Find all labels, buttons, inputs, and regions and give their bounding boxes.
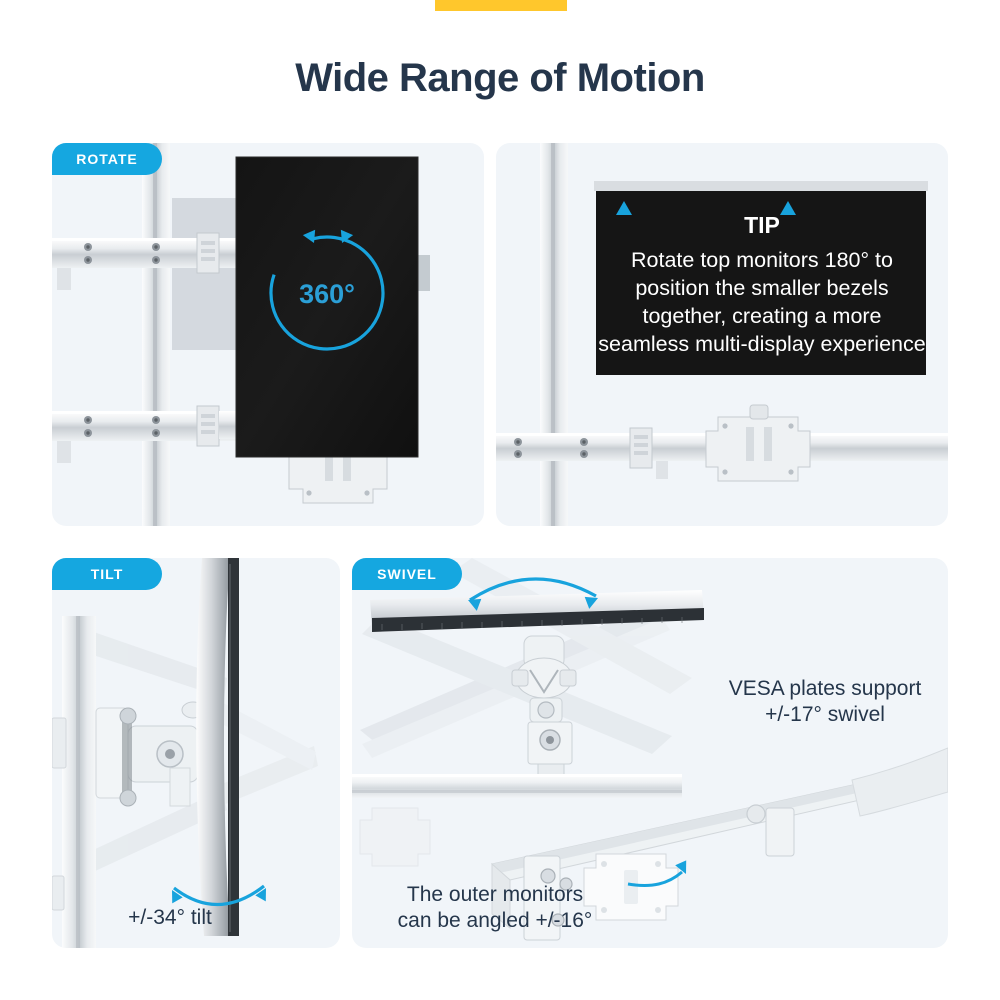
caption-vesa-swivel: VESA plates support +/-17° swivel (700, 676, 950, 727)
caption-tilt: +/-34° tilt (0, 905, 340, 931)
tilt-illustration (52, 558, 340, 948)
vesa-plate (706, 405, 810, 481)
caption-outer-monitors: The outer monitors can be angled +/-16° (355, 882, 635, 933)
rotation-label: 360° (299, 279, 355, 309)
tip-line-1: position the smaller bezels (635, 276, 888, 300)
panel-rotate: 360° ROTATE (52, 143, 484, 526)
badge-rotate: ROTATE (52, 143, 162, 175)
monitor-top-bezel (594, 181, 928, 191)
tip-illustration: TIP Rotate top monitors 180° to position… (496, 143, 948, 526)
panel-tip: TIP Rotate top monitors 180° to position… (496, 143, 948, 526)
rotate-illustration: 360° (52, 143, 484, 526)
top-accent-bar (435, 0, 567, 11)
tip-line-3: seamless multi-display experience (598, 332, 925, 356)
tip-line-2: together, creating a more (642, 304, 881, 328)
tip-heading: TIP (744, 212, 780, 238)
base-rail (352, 774, 682, 798)
monitor-side-profile (196, 558, 230, 936)
badge-tilt: TILT (52, 558, 162, 590)
tilt-joint (96, 702, 204, 806)
panel-tilt: TILT (52, 558, 340, 948)
page-title: Wide Range of Motion (0, 56, 1000, 101)
badge-swivel: SWIVEL (352, 558, 462, 590)
tip-line-0: Rotate top monitors 180° to (631, 248, 893, 272)
